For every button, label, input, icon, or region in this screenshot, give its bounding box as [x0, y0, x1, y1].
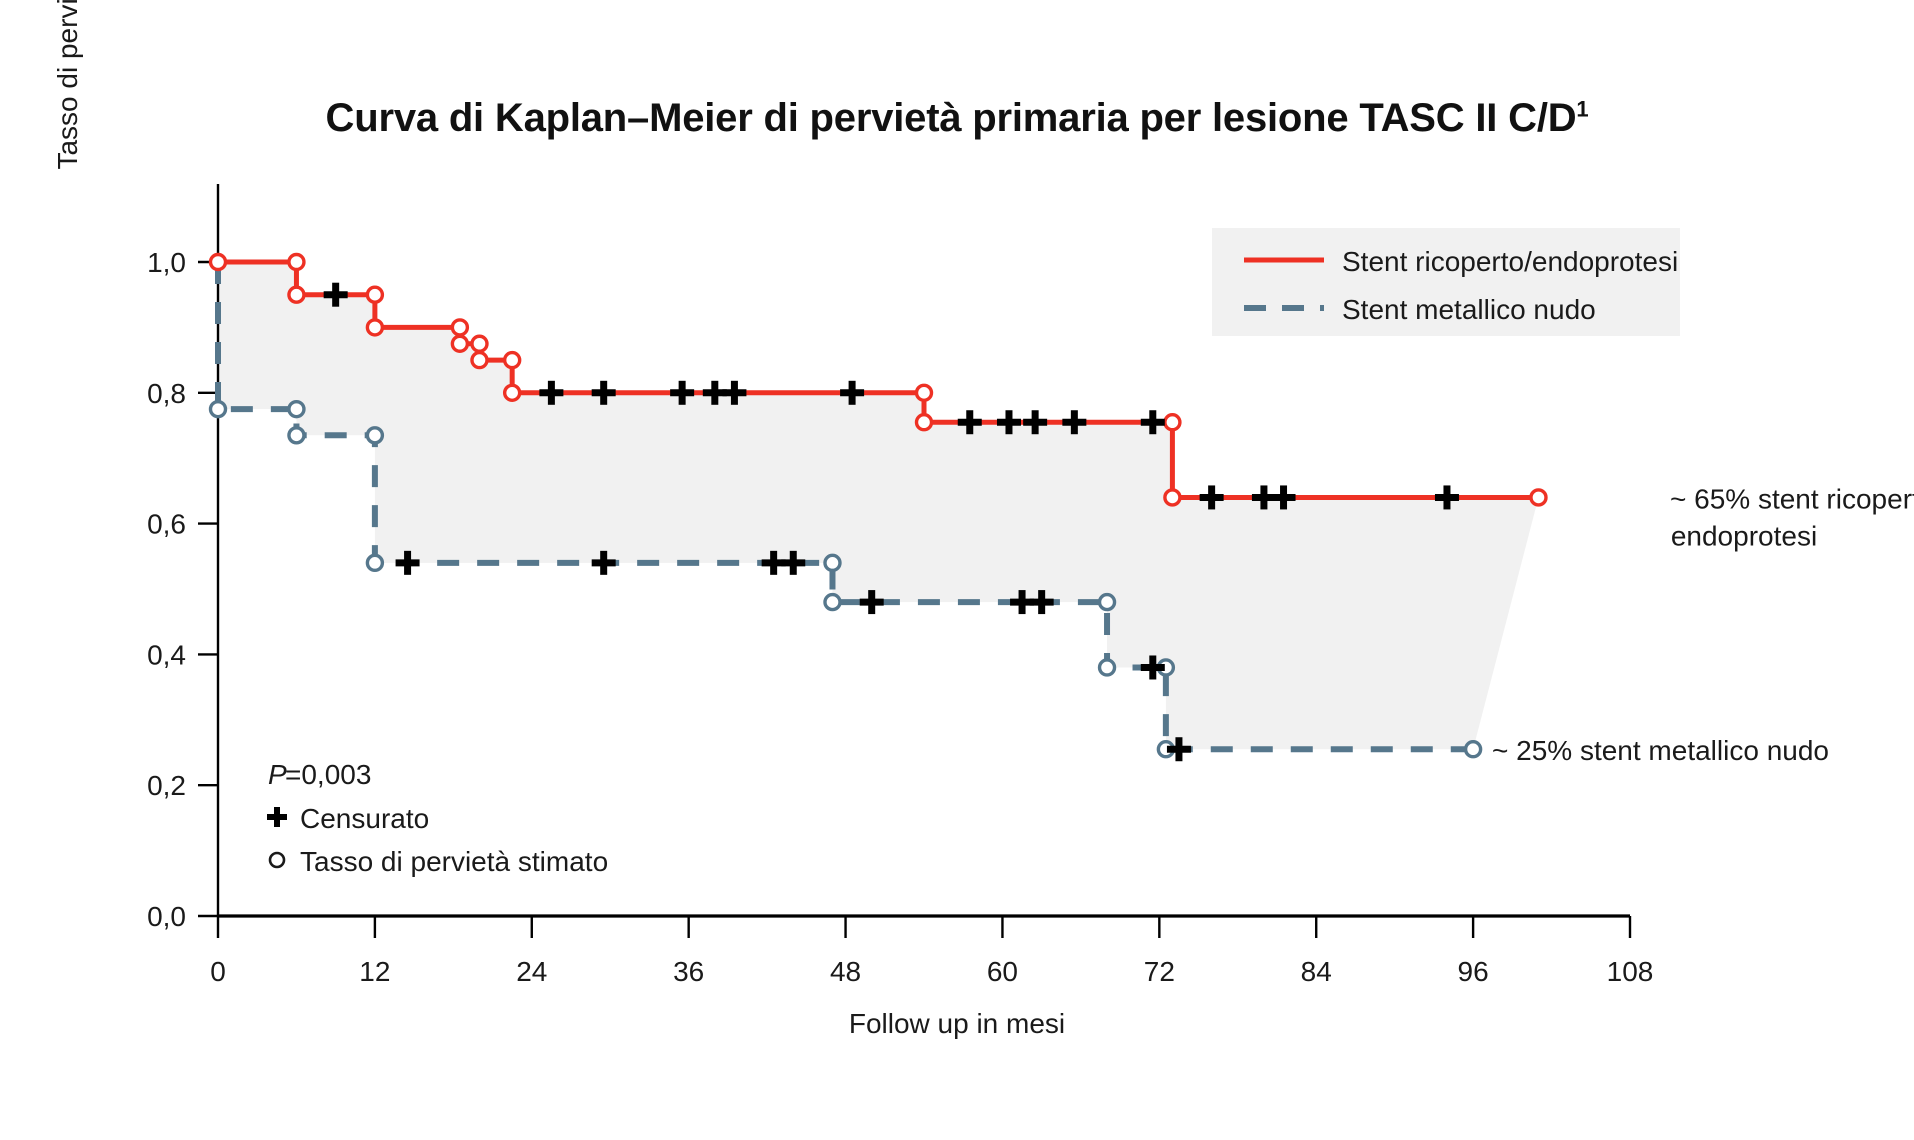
estimate-point-marker	[1165, 490, 1180, 505]
estimate-point-marker	[917, 385, 932, 400]
estimate-point-marker	[367, 287, 382, 302]
bare-metal-callout: ~ 25% stent metallico nudo	[1492, 735, 1829, 766]
x-tick-label: 60	[987, 956, 1018, 987]
estimate-point-marker	[917, 415, 932, 430]
legend: Stent ricoperto/endoprotesiStent metalli…	[1212, 228, 1680, 336]
estimate-point-marker	[1100, 595, 1115, 610]
y-tick-label: 0,6	[147, 509, 186, 540]
x-tick-label: 108	[1607, 956, 1654, 987]
estimate-point-marker	[367, 320, 382, 335]
censored-key: Censurato	[267, 803, 429, 834]
estimate-point-marker	[367, 555, 382, 570]
stats-key-block: P=0,003CensuratoTasso di pervietà stimat…	[267, 759, 608, 877]
callout-line-1: ~ 25% stent metallico nudo	[1492, 735, 1829, 766]
x-tick-label: 36	[673, 956, 704, 987]
kaplan-meier-figure: Curva di Kaplan–Meier di pervietà primar…	[0, 0, 1914, 1140]
estimate-point-marker	[472, 336, 487, 351]
estimate-point-marker	[289, 287, 304, 302]
p-value-number: =0,003	[285, 759, 371, 790]
estimate-point-marker	[1531, 490, 1546, 505]
estimate-point-marker	[211, 402, 226, 417]
x-tick-label: 12	[359, 956, 390, 987]
estimate-point-marker	[452, 320, 467, 335]
legend-item-label: Stent ricoperto/endoprotesi	[1342, 246, 1678, 277]
y-tick-label: 0,8	[147, 378, 186, 409]
y-tick-label: 0,0	[147, 901, 186, 932]
x-tick-label: 72	[1144, 956, 1175, 987]
estimate-point-marker	[289, 402, 304, 417]
x-tick-label: 84	[1301, 956, 1332, 987]
callout-line-1: ~ 65% stent ricoperto/	[1670, 483, 1914, 514]
censored-key-marker	[267, 807, 287, 827]
x-tick-label: 24	[516, 956, 547, 987]
estimate-point-marker	[1165, 415, 1180, 430]
estimate-point-marker	[505, 385, 520, 400]
censored-key-label: Censurato	[300, 803, 429, 834]
y-tick-label: 1,0	[147, 247, 186, 278]
covered-stent-callout: ~ 65% stent ricoperto/endoprotesi	[1670, 483, 1914, 551]
x-tick-label: 96	[1458, 956, 1489, 987]
plot-canvas: 0,00,20,40,60,81,001224364860728496108St…	[0, 0, 1914, 1140]
estimate-key: Tasso di pervietà stimato	[270, 846, 608, 877]
estimate-point-marker	[825, 595, 840, 610]
estimate-point-marker	[1100, 660, 1115, 675]
callout-line-2: endoprotesi	[1671, 520, 1817, 551]
p-value: P=0,003	[268, 759, 371, 790]
estimate-point-marker	[452, 336, 467, 351]
y-tick-label: 0,4	[147, 639, 186, 670]
estimate-key-marker	[270, 853, 284, 867]
estimate-point-marker	[505, 353, 520, 368]
estimate-point-marker	[1466, 742, 1481, 757]
estimate-point-marker	[367, 428, 382, 443]
legend-item-label: Stent metallico nudo	[1342, 294, 1596, 325]
estimate-point-marker	[825, 555, 840, 570]
x-tick-label: 48	[830, 956, 861, 987]
x-tick-label: 0	[210, 956, 226, 987]
estimate-point-marker	[472, 353, 487, 368]
estimate-point-marker	[289, 428, 304, 443]
estimate-point-marker	[211, 255, 226, 270]
estimate-point-marker	[289, 255, 304, 270]
estimate-key-label: Tasso di pervietà stimato	[300, 846, 608, 877]
y-tick-label: 0,2	[147, 770, 186, 801]
